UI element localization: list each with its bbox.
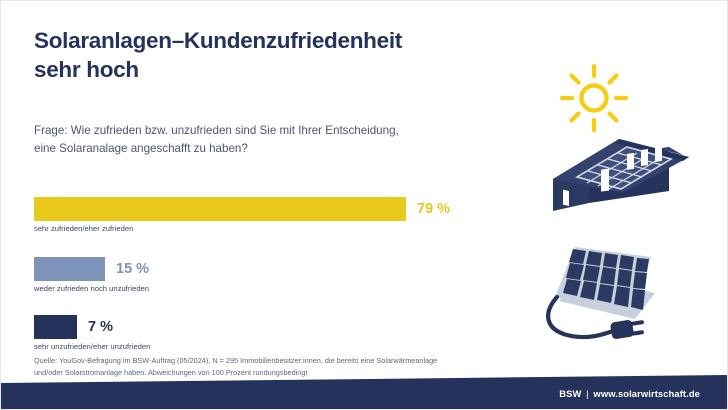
survey-question: Frage: Wie zufrieden bzw. unzufrieden si… xyxy=(34,122,514,158)
page-title-line-1: Solaranlagen–Kundenzufriedenheit xyxy=(34,28,402,53)
bar-label-neutral: weder zufrieden noch unzufrieden xyxy=(34,284,504,293)
bar-fill-unsatisfied xyxy=(34,315,77,339)
infographic-page: Solaranlagen–Kundenzufriedenheit sehr ho… xyxy=(0,0,728,410)
survey-question-line-2: eine Solaranalage angeschafft zu haben? xyxy=(34,140,514,158)
spacer xyxy=(34,241,504,257)
bar-fill-neutral xyxy=(34,257,105,281)
footer-url[interactable]: www.solarwirtschaft.de xyxy=(593,388,700,399)
bar-value-satisfied: 79 % xyxy=(417,201,450,217)
source-note: Quelle: YouGov-Befragung im BSW-Auftrag … xyxy=(34,355,534,379)
bar-row: 15 % weder zufrieden noch unzufrieden xyxy=(34,257,504,293)
source-note-line-1: Quelle: YouGov-Befragung im BSW-Auftrag … xyxy=(34,356,437,365)
bar-line: 79 % xyxy=(34,197,504,221)
bar-label-unsatisfied: sehr unzufrieden/eher unzufrieden xyxy=(34,342,504,351)
bar-row: 79 % sehr zufrieden/eher zufrieden xyxy=(34,197,504,233)
page-title: Solaranlagen–Kundenzufriedenheit sehr ho… xyxy=(34,27,504,85)
bar-fill-satisfied xyxy=(34,197,406,221)
house-with-solar-roof-icon xyxy=(541,133,721,215)
footer-separator: | xyxy=(586,388,589,399)
solar-panel-with-plug-icon xyxy=(539,243,725,347)
source-note-line-2: und/oder Solarstromanlage haben. Abweich… xyxy=(34,367,534,379)
footer-branding: BSW | www.solarwirtschaft.de xyxy=(559,388,700,399)
survey-question-line-1: Frage: Wie zufrieden bzw. unzufrieden si… xyxy=(34,124,399,137)
spacer xyxy=(34,301,504,315)
bar-line: 7 % xyxy=(34,315,504,339)
bar-chart: 79 % sehr zufrieden/eher zufrieden 15 % … xyxy=(34,197,504,359)
bar-line: 15 % xyxy=(34,257,504,281)
sun-icon xyxy=(559,63,629,133)
bar-row: 7 % sehr unzufrieden/eher unzufrieden xyxy=(34,315,504,351)
page-title-line-2: sehr hoch xyxy=(34,56,504,85)
bar-label-satisfied: sehr zufrieden/eher zufrieden xyxy=(34,224,504,233)
footer-brand: BSW xyxy=(559,388,581,399)
bar-value-unsatisfied: 7 % xyxy=(88,319,113,335)
bar-value-neutral: 15 % xyxy=(116,261,149,277)
